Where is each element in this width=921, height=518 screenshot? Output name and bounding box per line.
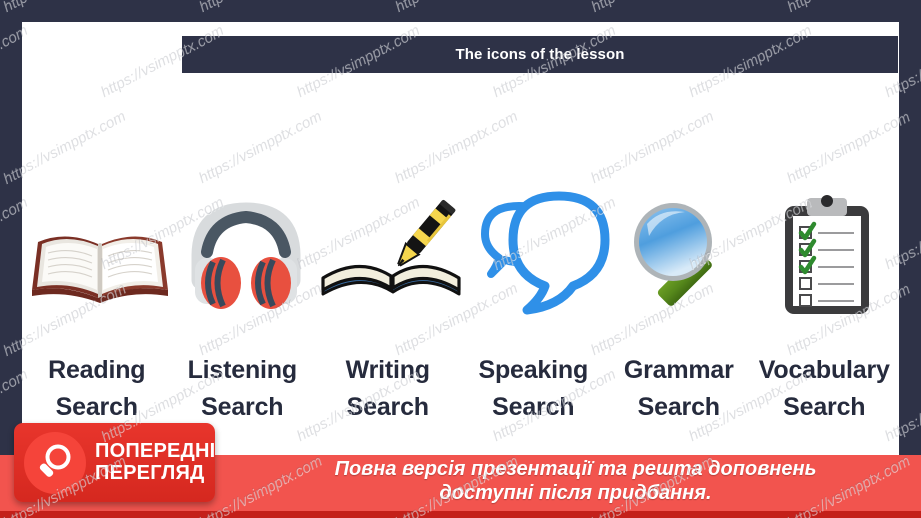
label-grammar: Grammar Search <box>606 352 752 426</box>
label-speaking: Speaking Search <box>461 352 607 426</box>
label-grammar-line2: Search <box>606 389 752 426</box>
icon-cell-listening[interactable] <box>176 168 317 318</box>
watermark-text: https://vsimpptx.com <box>588 0 717 15</box>
open-book-icon <box>24 206 176 318</box>
preview-badge-line1: ПОПЕРЕДНІЙ <box>95 440 215 462</box>
label-speaking-line1: Speaking <box>478 356 588 384</box>
banner-line1: Повна версія презентації та решта доповн… <box>335 458 817 480</box>
icon-cell-vocabulary[interactable] <box>756 168 897 318</box>
headphones-icon <box>191 200 301 318</box>
icon-row <box>24 168 897 318</box>
label-grammar-line1: Grammar <box>624 356 734 384</box>
label-listening-line1: Listening <box>188 356 297 384</box>
label-writing-line1: Writing <box>346 356 430 384</box>
label-writing: Writing Search <box>315 352 461 426</box>
icon-cell-reading[interactable] <box>24 168 176 318</box>
label-listening-line2: Search <box>170 389 316 426</box>
label-reading: Reading Search <box>24 352 170 426</box>
preview-badge[interactable]: ПОПЕРЕДНІЙ ПЕРЕГЛЯД <box>14 423 215 502</box>
label-writing-line2: Search <box>315 389 461 426</box>
icon-cell-speaking[interactable] <box>475 168 616 318</box>
notebook-pen-icon <box>317 192 475 318</box>
page-title: The icons of the lesson <box>456 46 625 63</box>
speech-bubbles-icon <box>475 182 615 318</box>
banner-line2: доступні після придбання. <box>230 481 921 505</box>
label-vocabulary: Vocabulary Search <box>752 352 898 426</box>
preview-badge-line2: ПЕРЕГЛЯД <box>95 463 215 484</box>
presentation-slide: The icons of the lesson <box>0 0 921 518</box>
icon-label-row: Reading Search Listening Search Writing … <box>24 352 897 426</box>
icon-cell-writing[interactable] <box>317 168 475 318</box>
label-reading-line2: Search <box>24 389 170 426</box>
clipboard-checklist-icon <box>777 192 877 318</box>
label-vocabulary-line1: Vocabulary <box>759 356 890 384</box>
label-speaking-line2: Search <box>461 389 607 426</box>
label-listening: Listening Search <box>170 352 316 426</box>
icon-cell-grammar[interactable] <box>616 168 757 318</box>
magnifier-icon <box>627 194 745 318</box>
magnifier-icon <box>24 432 86 494</box>
watermark-text: https://vsimpptx.com <box>392 0 521 15</box>
watermark-text: https://vsimpptx.com <box>0 0 129 15</box>
slide-title-bar: The icons of the lesson <box>182 36 898 73</box>
label-vocabulary-line2: Search <box>752 389 898 426</box>
watermark-text: https://vsimpptx.com <box>196 0 325 15</box>
watermark-text: https://vsimpptx.com <box>784 0 913 15</box>
label-reading-line1: Reading <box>48 356 145 384</box>
